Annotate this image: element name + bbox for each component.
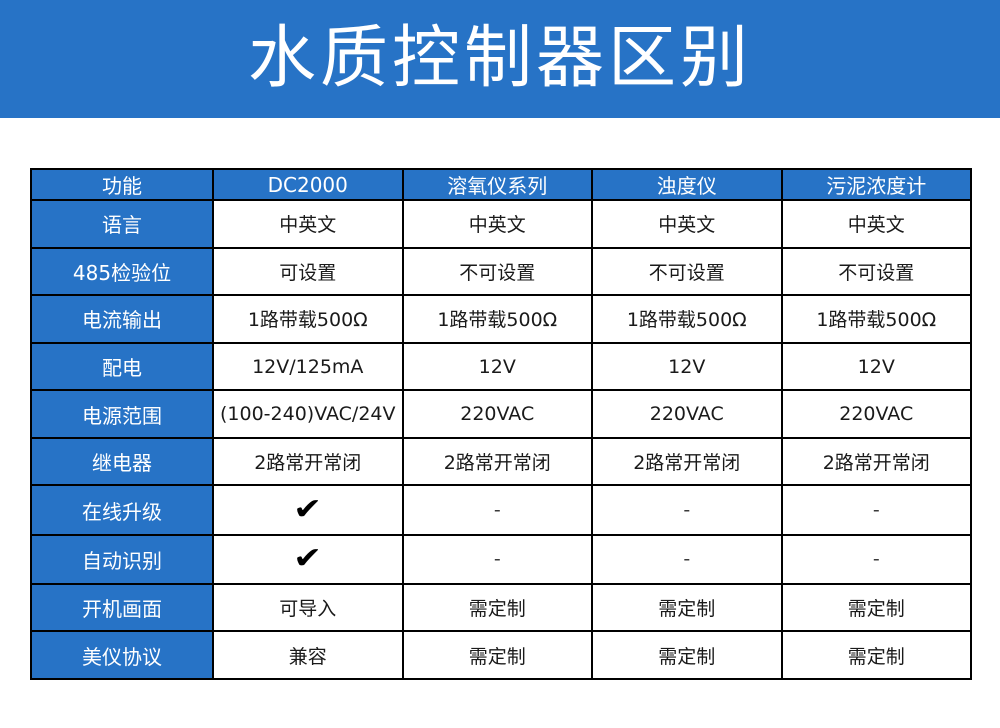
checkmark-icon: ✔ [293, 544, 322, 574]
data-cell: 12V [592, 343, 782, 391]
data-cell: 可设置 [213, 248, 403, 296]
data-cell: 12V [782, 343, 972, 391]
page-title: 水质控制器区别 [248, 25, 752, 93]
row-label-cell: 开机画面 [31, 584, 213, 632]
row-label-cell: 自动识别 [31, 535, 213, 584]
table-row: 继电器2路常开常闭2路常开常闭2路常开常闭2路常开常闭 [31, 438, 971, 486]
data-cell: 不可设置 [592, 248, 782, 296]
data-cell: 220VAC [782, 390, 972, 438]
row-label-cell: 485检验位 [31, 248, 213, 296]
comparison-table-container: 功能 DC2000 溶氧仪系列 浊度仪 污泥浓度计 语言中英文中英文中英文中英文… [30, 168, 970, 680]
table-row: 485检验位可设置不可设置不可设置不可设置 [31, 248, 971, 296]
table-row: 在线升级✔--- [31, 485, 971, 534]
data-cell: 不可设置 [403, 248, 593, 296]
data-cell: ✔ [213, 485, 403, 534]
data-cell: 兼容 [213, 631, 403, 679]
data-cell: 需定制 [782, 631, 972, 679]
row-label-cell: 电源范围 [31, 390, 213, 438]
table-row: 自动识别✔--- [31, 535, 971, 584]
row-label-cell: 配电 [31, 343, 213, 391]
table-row: 开机画面可导入需定制需定制需定制 [31, 584, 971, 632]
data-cell: 需定制 [403, 584, 593, 632]
data-cell: 中英文 [403, 200, 593, 248]
data-cell: 12V/125mA [213, 343, 403, 391]
data-cell: 1路带载500Ω [592, 295, 782, 343]
data-cell: 12V [403, 343, 593, 391]
dash-mark: - [683, 499, 690, 521]
row-label-cell: 美仪协议 [31, 631, 213, 679]
column-header-do: 溶氧仪系列 [403, 169, 593, 200]
table-row: 美仪协议兼容需定制需定制需定制 [31, 631, 971, 679]
data-cell: 需定制 [782, 584, 972, 632]
column-header-feature: 功能 [31, 169, 213, 200]
checkmark-icon: ✔ [293, 495, 322, 525]
table-row: 电源范围(100-240)VAC/24V220VAC220VAC220VAC [31, 390, 971, 438]
data-cell: 2路常开常闭 [592, 438, 782, 486]
row-label-cell: 继电器 [31, 438, 213, 486]
data-cell: 需定制 [403, 631, 593, 679]
table-row: 配电12V/125mA12V12V12V [31, 343, 971, 391]
data-cell: 需定制 [592, 631, 782, 679]
dash-mark: - [683, 548, 690, 570]
column-header-dc2000: DC2000 [213, 169, 403, 200]
data-cell: 需定制 [592, 584, 782, 632]
data-cell: 可导入 [213, 584, 403, 632]
data-cell: 2路常开常闭 [213, 438, 403, 486]
data-cell: 1路带载500Ω [213, 295, 403, 343]
comparison-table: 功能 DC2000 溶氧仪系列 浊度仪 污泥浓度计 语言中英文中英文中英文中英文… [30, 168, 972, 680]
data-cell: 1路带载500Ω [403, 295, 593, 343]
data-cell: 220VAC [403, 390, 593, 438]
table-row: 电流输出1路带载500Ω1路带载500Ω1路带载500Ω1路带载500Ω [31, 295, 971, 343]
data-cell: 220VAC [592, 390, 782, 438]
title-banner: 水质控制器区别 [0, 0, 1000, 118]
column-header-turbid: 浊度仪 [592, 169, 782, 200]
data-cell: (100-240)VAC/24V [213, 390, 403, 438]
data-cell: 不可设置 [782, 248, 972, 296]
data-cell: - [592, 485, 782, 534]
dash-mark: - [873, 499, 880, 521]
data-cell: 2路常开常闭 [403, 438, 593, 486]
dash-mark: - [494, 548, 501, 570]
data-cell: 中英文 [213, 200, 403, 248]
dash-mark: - [494, 499, 501, 521]
dash-mark: - [873, 548, 880, 570]
data-cell: - [782, 535, 972, 584]
table-header-row: 功能 DC2000 溶氧仪系列 浊度仪 污泥浓度计 [31, 169, 971, 200]
row-label-cell: 电流输出 [31, 295, 213, 343]
data-cell: 中英文 [782, 200, 972, 248]
data-cell: - [403, 485, 593, 534]
row-label-cell: 语言 [31, 200, 213, 248]
data-cell: - [403, 535, 593, 584]
table-header: 功能 DC2000 溶氧仪系列 浊度仪 污泥浓度计 [31, 169, 971, 200]
data-cell: 中英文 [592, 200, 782, 248]
data-cell: 2路常开常闭 [782, 438, 972, 486]
data-cell: - [592, 535, 782, 584]
table-body: 语言中英文中英文中英文中英文485检验位可设置不可设置不可设置不可设置电流输出1… [31, 200, 971, 679]
table-row: 语言中英文中英文中英文中英文 [31, 200, 971, 248]
page-root: 水质控制器区别 功能 DC2000 溶氧仪系列 浊度仪 污泥浓度计 语言中英文中… [0, 0, 1000, 728]
row-label-cell: 在线升级 [31, 485, 213, 534]
data-cell: - [782, 485, 972, 534]
data-cell: ✔ [213, 535, 403, 584]
data-cell: 1路带载500Ω [782, 295, 972, 343]
column-header-sludge: 污泥浓度计 [782, 169, 972, 200]
